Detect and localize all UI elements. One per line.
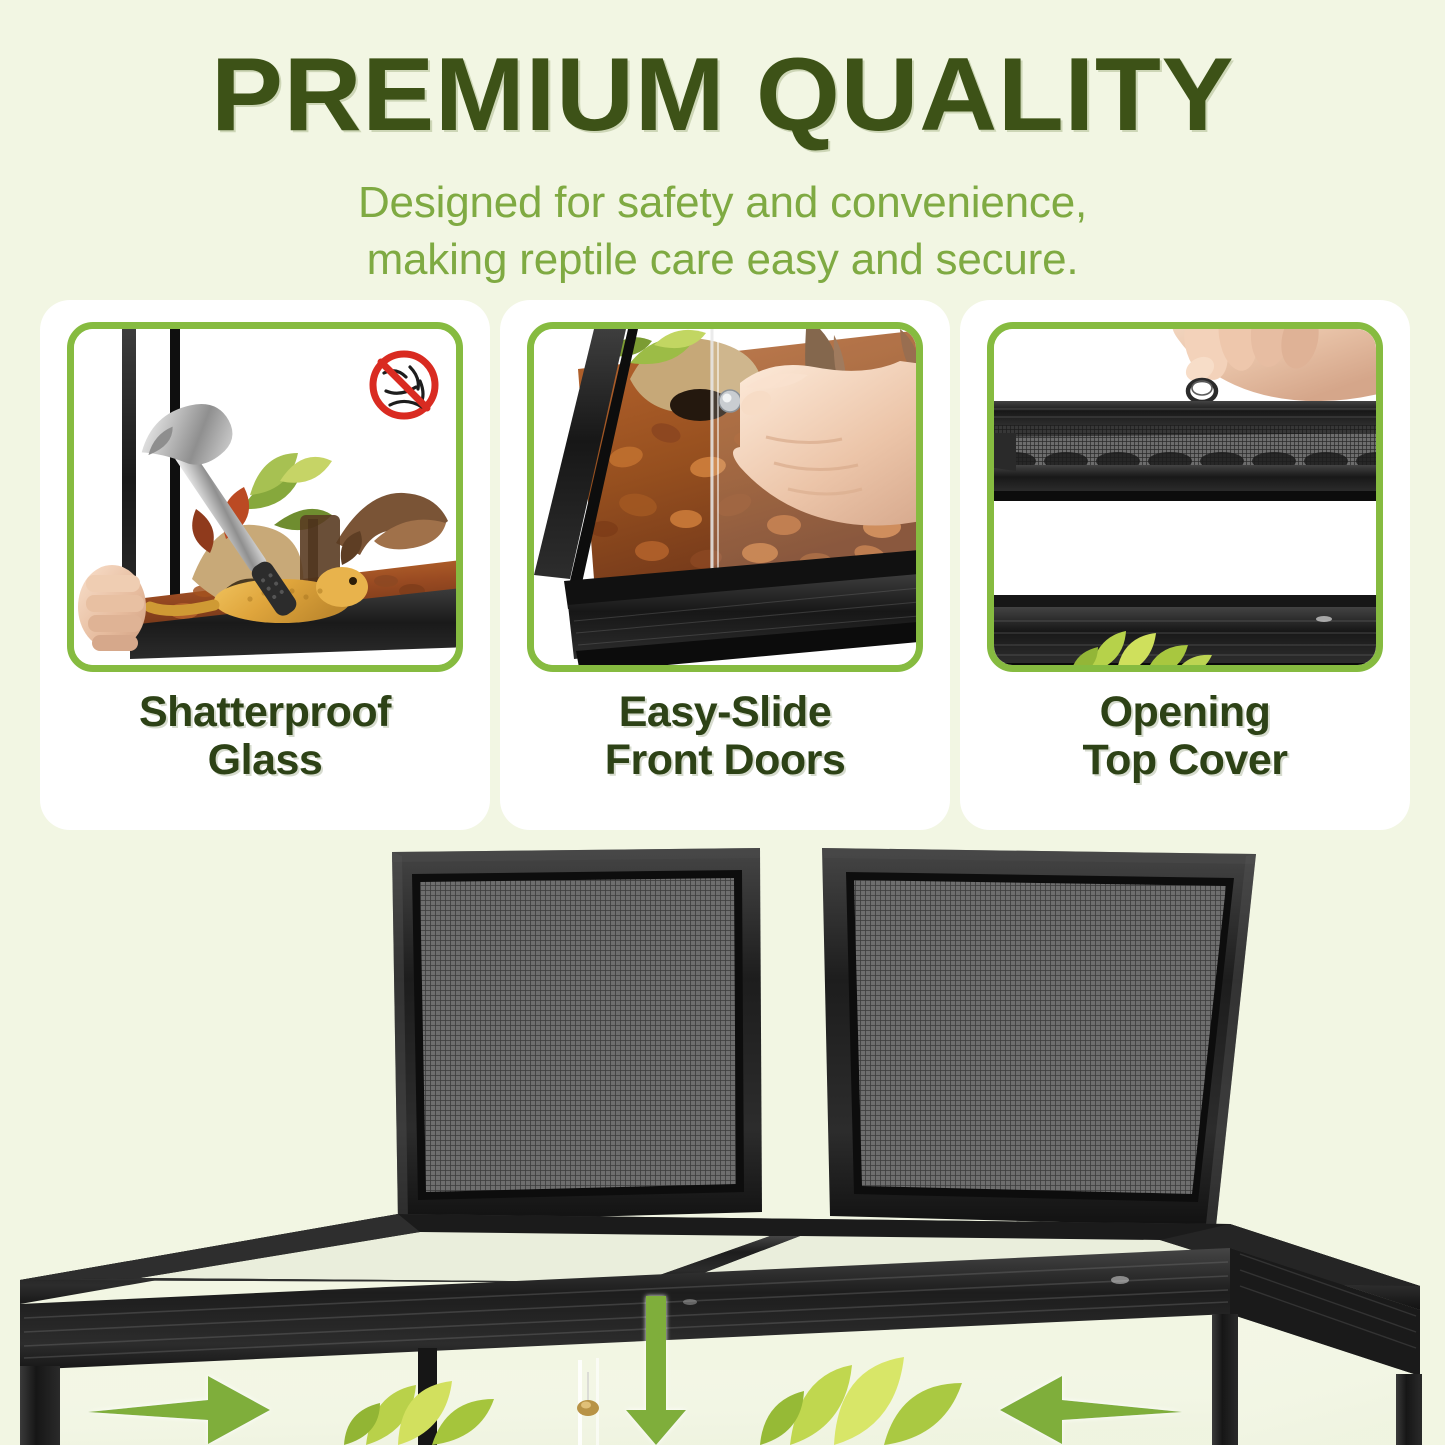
subtitle-line-2: making reptile care easy and secure.	[0, 231, 1445, 288]
page-subtitle: Designed for safety and convenience, mak…	[0, 174, 1445, 288]
subtitle-line-1: Designed for safety and convenience,	[0, 174, 1445, 231]
opening-top-cover-illustration	[994, 329, 1383, 672]
feature-card-opening-top-cover: Opening Top Cover	[960, 300, 1410, 830]
shatterproof-glass-illustration	[74, 329, 463, 672]
label-line-2: Glass	[139, 736, 391, 784]
feature-cards-row: Shatterproof Glass	[40, 300, 1410, 830]
easy-slide-front-doors-photo	[527, 322, 923, 672]
feature-card-label-easy-slide-front-doors: Easy-Slide Front Doors	[605, 688, 846, 784]
page-title: PREMIUM QUALITY	[0, 42, 1445, 148]
easy-slide-doors-illustration	[534, 329, 923, 672]
feature-card-label-shatterproof-glass: Shatterproof Glass	[139, 688, 391, 784]
feature-card-shatterproof-glass: Shatterproof Glass	[40, 300, 490, 830]
label-line-2: Top Cover	[1083, 736, 1288, 784]
left-top-cover-panel	[392, 848, 762, 1222]
shatterproof-glass-photo	[67, 322, 463, 672]
terrarium-illustration	[0, 840, 1445, 1445]
product-photo	[0, 840, 1445, 1445]
right-top-cover-panel	[822, 848, 1256, 1226]
label-line-2: Front Doors	[605, 736, 846, 784]
feature-card-label-opening-top-cover: Opening Top Cover	[1083, 688, 1288, 784]
opening-top-cover-photo	[987, 322, 1383, 672]
door-knob-icon	[719, 390, 741, 412]
label-line-1: Shatterproof	[139, 688, 391, 736]
feature-card-easy-slide-front-doors: Easy-Slide Front Doors	[500, 300, 950, 830]
header-section: PREMIUM QUALITY Designed for safety and …	[0, 0, 1445, 288]
label-line-1: Easy-Slide	[605, 688, 846, 736]
label-line-1: Opening	[1083, 688, 1288, 736]
